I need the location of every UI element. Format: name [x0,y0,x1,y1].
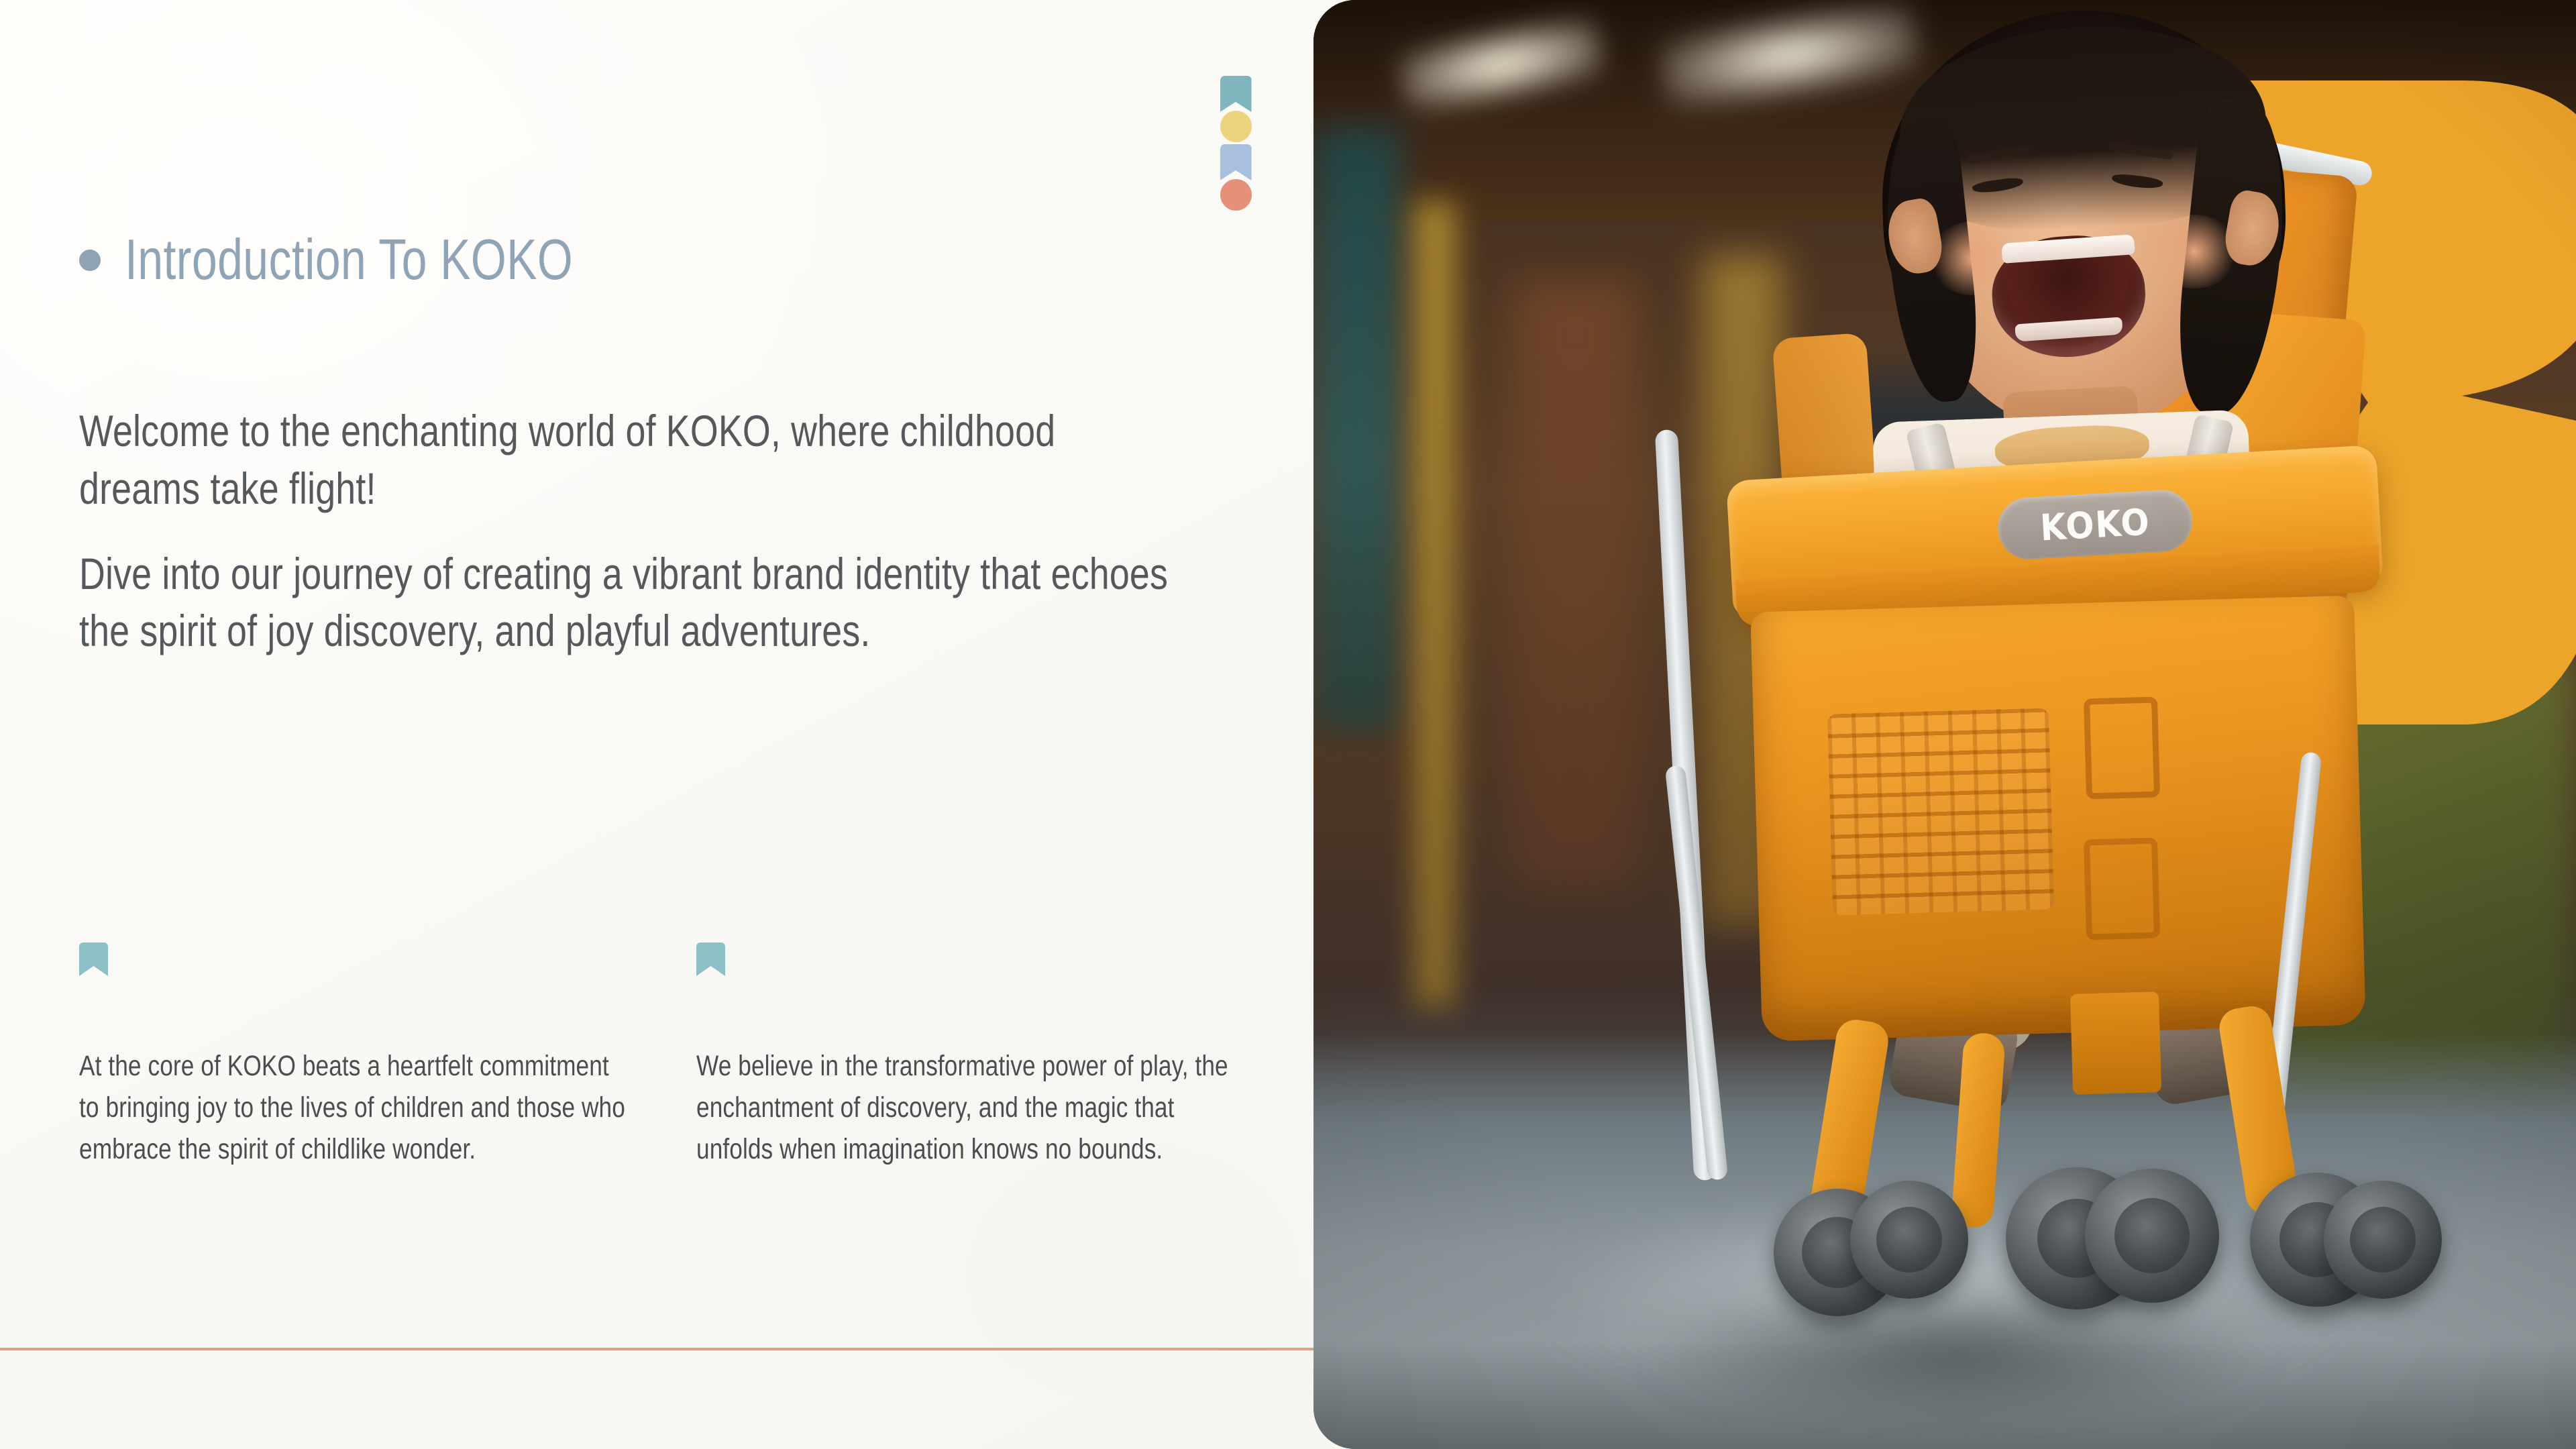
cart-wheel [2324,1181,2442,1299]
decorative-shape-stack [1218,76,1254,211]
hero-photo-panel: KOKO [1313,0,2576,1449]
body-paragraph-2: Dive into our journey of creating a vibr… [79,545,1178,661]
dot-icon [79,250,101,271]
cart-basket-window-upper [2084,696,2160,799]
bookmark-icon [696,943,725,976]
left-text-panel: Introduction To KOKO Welcome to the ench… [0,0,1335,1449]
child-cheek-right [2151,215,2238,288]
deco-bookmark-teal-icon [1220,76,1252,112]
slide-root: Introduction To KOKO Welcome to the ench… [0,0,2576,1449]
cart-wheel [1850,1181,1968,1299]
cart-basket-grill [1827,708,2054,915]
feature-column-1: At the core of KOKO beats a heartfelt co… [79,943,696,1171]
cart-basket-window-lower [2084,837,2160,940]
hero-photo: KOKO [1313,0,2576,1449]
page-title: Introduction To KOKO [125,231,573,288]
section-heading: Introduction To KOKO [79,231,685,288]
feature-column-2: We believe in the transformative power o… [696,943,1313,1171]
bookmark-icon [79,943,108,976]
feature-column-1-text: At the core of KOKO beats a heartfelt co… [79,1046,629,1171]
body-copy: Welcome to the enchanting world of KOKO,… [79,402,1179,660]
deco-bookmark-blue-icon [1220,144,1252,180]
divider-rule [0,1348,1335,1350]
koko-logo-text: KOKO [2039,500,2151,549]
deco-circle-salmon-icon [1220,179,1252,211]
deco-circle-yellow-icon [1220,111,1252,142]
koko-logo-badge: KOKO [1996,488,2194,561]
body-paragraph-1: Welcome to the enchanting world of KOKO,… [79,402,1178,518]
feature-columns: At the core of KOKO beats a heartfelt co… [79,943,1313,1171]
cart-and-child: KOKO [1313,0,2576,1449]
cart-wheel [2085,1169,2219,1303]
cart-basket-tab [2070,991,2161,1095]
feature-column-2-text: We believe in the transformative power o… [696,1046,1246,1171]
